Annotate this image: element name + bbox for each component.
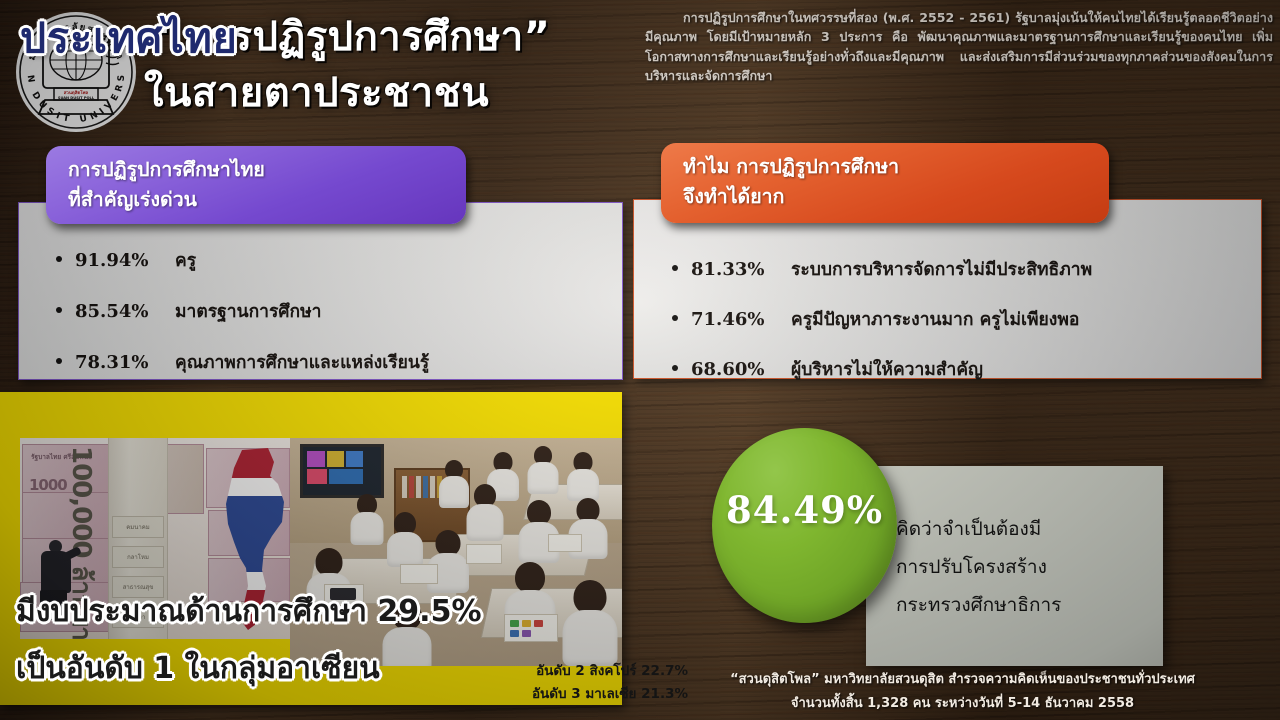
- color-chip: [522, 630, 531, 637]
- result-percent-circle: 84.49%: [712, 428, 897, 623]
- student-figure: [466, 484, 504, 540]
- left-panel-list: 91.94% ครู 85.54% มาตรฐานการศึกษา 78.31%…: [56, 246, 429, 399]
- left-heading-line-2: ที่สำคัญเร่งด่วน: [68, 185, 466, 215]
- svg-text:สวนดุสิตโพล: สวนดุสิตโพล: [64, 89, 89, 96]
- worksheet: [504, 614, 558, 642]
- footer-line-1: “สวนดุสิตโพล” มหาวิทยาลัยสวนดุสิต สำรวจค…: [650, 668, 1275, 692]
- stat-percent: 78.31%: [75, 352, 161, 373]
- budget-category: กลาโหม: [112, 546, 164, 568]
- stat-percent: 71.46%: [691, 309, 777, 330]
- right-panel-list: 81.33% ระบบการบริหารจัดการไม่มีประสิทธิภ…: [672, 255, 1092, 405]
- worksheet: [548, 534, 582, 552]
- right-heading-line-1: ทำไม การปฏิรูปการศึกษา: [683, 152, 1109, 182]
- stat-percent: 91.94%: [75, 250, 161, 271]
- bullet-icon: [56, 358, 62, 364]
- student-figure: [526, 446, 560, 494]
- bullet-icon: [672, 265, 678, 271]
- stat-percent: 68.60%: [691, 359, 777, 380]
- color-chip: [522, 620, 531, 627]
- stat-label: ครูมีปัญหาภาระงานมาก ครูไม่เพียงพอ: [791, 305, 1079, 333]
- display-screen-icon: [300, 444, 384, 498]
- stat-percent: 81.33%: [691, 259, 777, 280]
- right-panel-heading: ทำไม การปฏิรูปการศึกษา จึงทำได้ยาก: [661, 143, 1109, 223]
- list-item: 91.94% ครู: [56, 246, 429, 274]
- infographic-background: มหาวิทยาลัยสวนดุสิต SUAN DUSIT UNIVERSIT…: [0, 0, 1280, 720]
- color-chip: [510, 620, 519, 627]
- left-panel-heading: การปฏิรูปการศึกษาไทย ที่สำคัญเร่งด่วน: [46, 146, 466, 224]
- student-figure: [350, 494, 384, 544]
- list-item: 81.33% ระบบการบริหารจัดการไม่มีประสิทธิภ…: [672, 255, 1092, 283]
- bullet-icon: [56, 256, 62, 262]
- yellow-panel-heading: ประเทศไทย: [20, 6, 238, 71]
- budget-category: คมนาคม: [112, 516, 164, 538]
- worksheet: [400, 564, 438, 584]
- stat-label: ระบบการบริหารจัดการไม่มีประสิทธิภาพ: [791, 255, 1092, 283]
- worksheet: [466, 544, 502, 564]
- survey-footer: “สวนดุสิตโพล” มหาวิทยาลัยสวนดุสิต สำรวจค…: [650, 668, 1275, 716]
- student-figure: [386, 512, 424, 566]
- stat-label: ผู้บริหารไม่ให้ความสำคัญ: [791, 355, 983, 383]
- color-chip: [510, 630, 519, 637]
- stat-label: มาตรฐานการศึกษา: [175, 297, 321, 325]
- footer-line-2: จำนวนทั้งสิ้น 1,328 คน ระหว่างวันที่ 5-1…: [650, 692, 1275, 716]
- budget-line-2: เป็นอันดับ 1 ในกลุ่มอาเซียน: [16, 645, 380, 692]
- result-text-line-1: คิดว่าจำเป็นต้องมี: [896, 510, 1166, 548]
- bullet-icon: [672, 315, 678, 321]
- student-figure: [562, 580, 618, 666]
- result-text-line-3: กระทรวงศึกษาธิการ: [896, 586, 1166, 624]
- stat-label: คุณภาพการศึกษาและแหล่งเรียนรู้: [175, 348, 429, 376]
- student-figure: [518, 500, 560, 562]
- list-item: 78.31% คุณภาพการศึกษาและแหล่งเรียนรู้: [56, 348, 429, 376]
- result-text: คิดว่าจำเป็นต้องมี การปรับโครงสร้าง กระท…: [896, 510, 1166, 624]
- stat-percent: 85.54%: [75, 301, 161, 322]
- result-text-line-2: การปรับโครงสร้าง: [896, 548, 1166, 586]
- budget-line-1: มีงบประมาณด้านการศึกษา 29.5%: [16, 588, 482, 635]
- color-chip: [534, 620, 543, 627]
- bullet-icon: [672, 365, 678, 371]
- intro-paragraph: การปฏิรูปการศึกษาในทศวรรษที่สอง (พ.ศ. 25…: [645, 8, 1273, 86]
- list-item: 85.54% มาตรฐานการศึกษา: [56, 297, 429, 325]
- student-figure: [566, 452, 600, 500]
- title-line-2: ในสายตาประชาชน: [140, 64, 640, 122]
- result-percent-value: 84.49%: [726, 488, 883, 532]
- right-heading-line-2: จึงทำได้ยาก: [683, 182, 1109, 212]
- list-item: 71.46% ครูมีปัญหาภาระงานมาก ครูไม่เพียงพ…: [672, 305, 1092, 333]
- list-item: 68.60% ผู้บริหารไม่ให้ความสำคัญ: [672, 355, 1092, 383]
- bullet-icon: [56, 307, 62, 313]
- left-heading-line-1: การปฏิรูปการศึกษาไทย: [68, 155, 466, 185]
- stat-label: ครู: [175, 246, 196, 274]
